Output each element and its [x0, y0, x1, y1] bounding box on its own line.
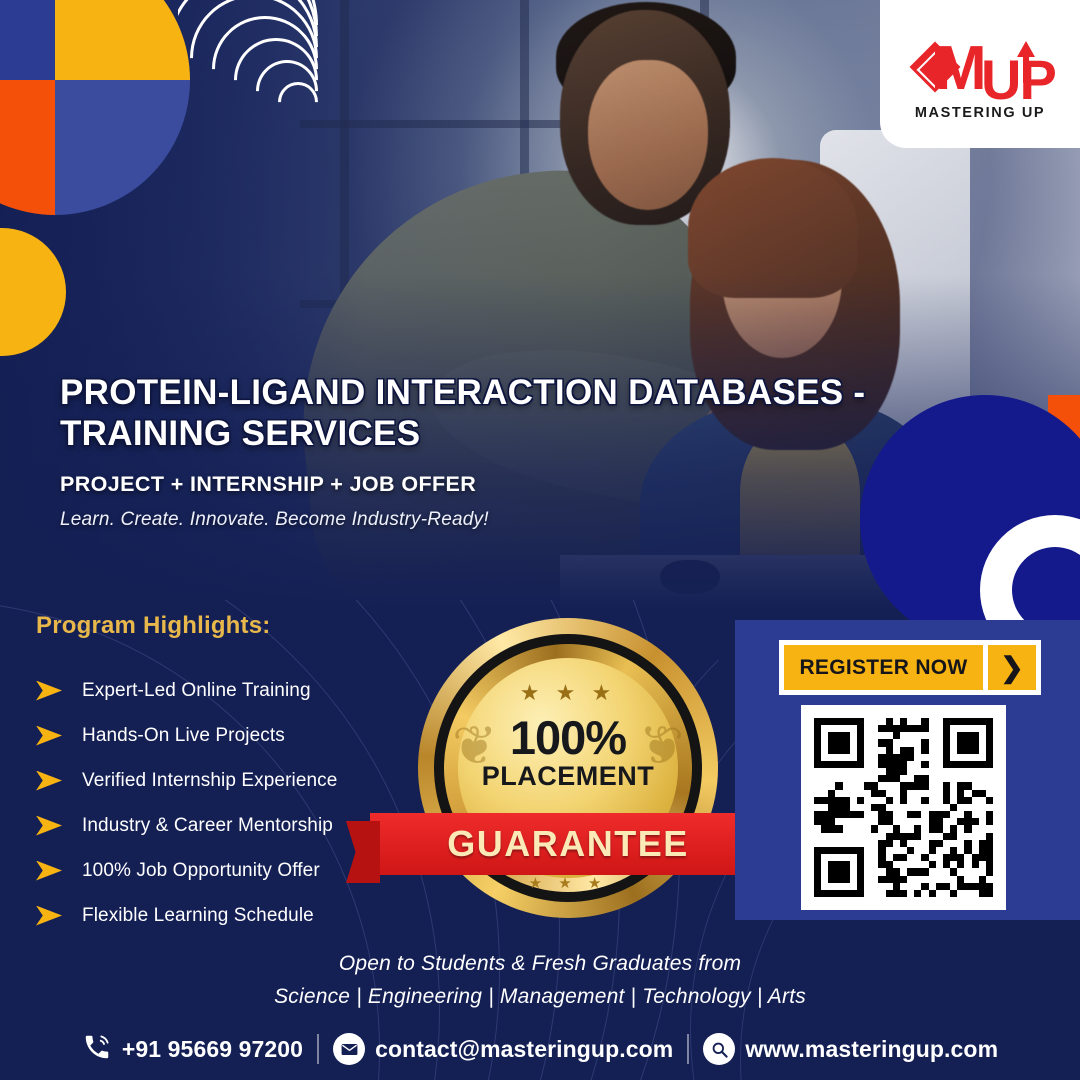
- promotional-poster: M UP MASTERING UP PROTEIN-LIGAND INTERAC…: [0, 0, 1080, 1080]
- contact-phone[interactable]: +91 95669 97200: [68, 1032, 317, 1067]
- register-button-wrap[interactable]: REGISTER NOW ❯: [779, 640, 1041, 695]
- badge-percent: 100%: [418, 710, 718, 765]
- concentric-arcs-decor: [178, 0, 318, 122]
- email-icon: [333, 1033, 365, 1065]
- guarantee-ribbon: GUARANTEE: [370, 813, 766, 875]
- contact-email[interactable]: contact@masteringup.com: [319, 1033, 687, 1065]
- tagline: Learn. Create. Innovate. Become Industry…: [60, 509, 860, 531]
- phone-icon: [82, 1032, 112, 1067]
- list-item-label: Expert-Led Online Training: [82, 680, 311, 702]
- qr-code-grid: [814, 718, 993, 897]
- brand-logo[interactable]: M UP MASTERING UP: [880, 0, 1080, 148]
- contact-footer: +91 95669 97200 contact@masteringup.com …: [0, 1018, 1080, 1080]
- up-arrow-stem-icon: [1023, 55, 1029, 83]
- bullet-arrow-icon: [36, 906, 62, 926]
- highlights-list: Expert-Led Online Training Hands-On Live…: [36, 668, 436, 938]
- contact-website[interactable]: www.masteringup.com: [689, 1033, 1012, 1065]
- quadrant-circle-decor: [0, 0, 190, 215]
- list-item-label: Flexible Learning Schedule: [82, 905, 314, 927]
- search-icon: [703, 1033, 735, 1065]
- bullet-arrow-icon: [36, 816, 62, 836]
- quadrant-amber-topright: [55, 0, 190, 80]
- bullet-arrow-icon: [36, 681, 62, 701]
- logo-letter-m: M: [935, 33, 983, 104]
- register-button[interactable]: REGISTER NOW: [784, 645, 983, 690]
- phone-number: +91 95669 97200: [122, 1036, 303, 1063]
- bullet-arrow-icon: [36, 726, 62, 746]
- highlights-title: Program Highlights:: [36, 612, 270, 640]
- eligibility-line-2: Science | Engineering | Management | Tec…: [0, 981, 1080, 1014]
- guarantee-label: GUARANTEE: [447, 823, 689, 865]
- quadrant-orange-bottomleft: [0, 80, 55, 215]
- list-item-label: Hands-On Live Projects: [82, 725, 285, 747]
- page-title: PROTEIN-LIGAND INTERACTION DATABASES - T…: [60, 372, 1020, 455]
- eligibility-block: Open to Students & Fresh Graduates from …: [0, 948, 1080, 1013]
- eligibility-line-1: Open to Students & Fresh Graduates from: [0, 948, 1080, 981]
- list-item: Expert-Led Online Training: [36, 668, 436, 713]
- badge-placement-label: PLACEMENT: [418, 761, 718, 792]
- list-item: Hands-On Live Projects: [36, 713, 436, 758]
- quadrant-blue-bottomright: [55, 80, 190, 215]
- qr-code[interactable]: [801, 705, 1006, 910]
- badge-stars-icon: ★ ★ ★: [418, 680, 718, 706]
- list-item: Verified Internship Experience: [36, 758, 436, 803]
- badge-stars-bottom-icon: ★ ★ ★: [418, 874, 718, 892]
- list-item: Flexible Learning Schedule: [36, 893, 436, 938]
- list-item-label: Industry & Career Mentorship: [82, 815, 333, 837]
- placement-guarantee-badge: ❦ ❦ ★ ★ ★ 100% PLACEMENT ★ ★ ★ GUARANTEE: [418, 618, 718, 918]
- logo-mark-icon: M UP: [905, 27, 1055, 101]
- website-url: www.masteringup.com: [745, 1036, 998, 1063]
- list-item-label: 100% Job Opportunity Offer: [82, 860, 320, 882]
- list-item-label: Verified Internship Experience: [82, 770, 337, 792]
- subheadline: PROJECT + INTERNSHIP + JOB OFFER: [60, 472, 860, 497]
- bullet-arrow-icon: [36, 861, 62, 881]
- bullet-arrow-icon: [36, 771, 62, 791]
- chevron-right-icon[interactable]: ❯: [988, 645, 1036, 690]
- quadrant-blue-topleft: [0, 0, 55, 80]
- email-address: contact@masteringup.com: [375, 1036, 673, 1063]
- cta-panel: REGISTER NOW ❯: [735, 620, 1080, 920]
